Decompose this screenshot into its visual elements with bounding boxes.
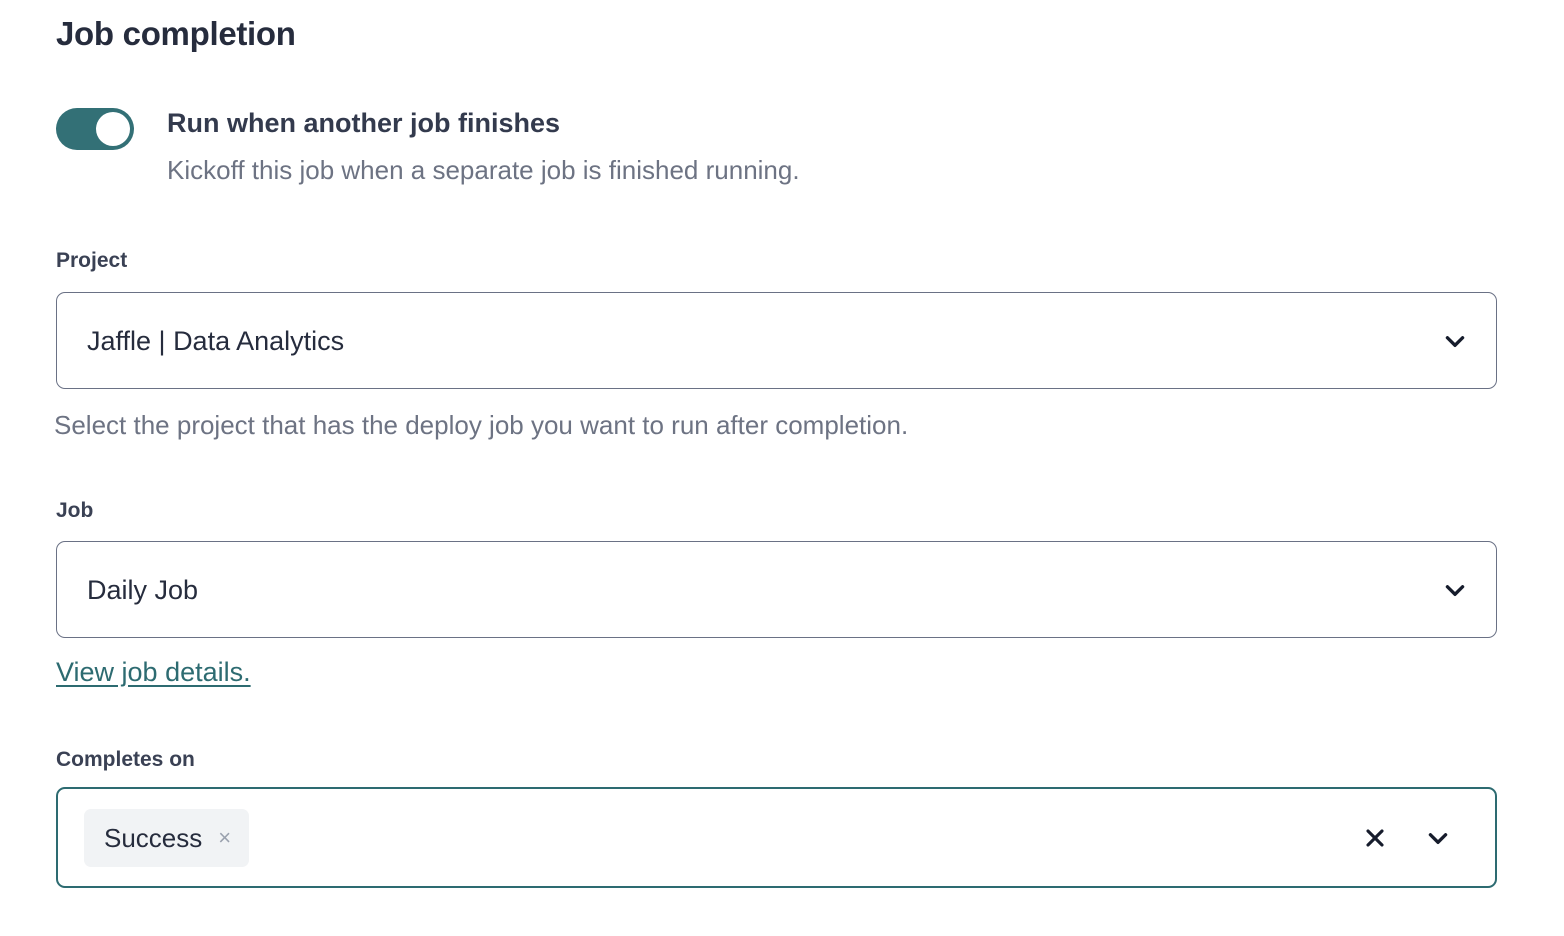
completes-on-multiselect[interactable]: Success × — [56, 787, 1497, 888]
project-help-text: Select the project that has the deploy j… — [54, 408, 908, 442]
run-when-another-job-finishes-row: Run when another job finishes Kickoff th… — [56, 104, 1496, 204]
job-completion-panel: Job completion Run when another job fini… — [0, 0, 1564, 936]
job-label: Job — [56, 498, 93, 524]
toggle-label: Run when another job finishes — [167, 104, 560, 142]
job-select-value: Daily Job — [87, 573, 198, 607]
run-when-another-job-finishes-toggle[interactable] — [56, 108, 134, 150]
job-select[interactable]: Daily Job — [56, 541, 1497, 638]
toggle-description: Kickoff this job when a separate job is … — [167, 152, 800, 188]
chevron-down-icon[interactable] — [1425, 825, 1451, 851]
chevron-down-icon[interactable] — [1442, 577, 1468, 603]
chevron-down-icon[interactable] — [1442, 328, 1468, 354]
view-job-details-link[interactable]: View job details. — [56, 655, 251, 689]
tag-success[interactable]: Success × — [84, 809, 249, 867]
close-icon[interactable] — [1363, 826, 1387, 850]
tag-label: Success — [104, 823, 202, 853]
project-select-value: Jaffle | Data Analytics — [87, 324, 344, 358]
project-label: Project — [56, 248, 127, 274]
page-title: Job completion — [56, 14, 296, 54]
completes-on-label: Completes on — [56, 747, 195, 773]
close-icon[interactable]: × — [218, 827, 231, 849]
toggle-knob — [96, 112, 130, 146]
project-select[interactable]: Jaffle | Data Analytics — [56, 292, 1497, 389]
